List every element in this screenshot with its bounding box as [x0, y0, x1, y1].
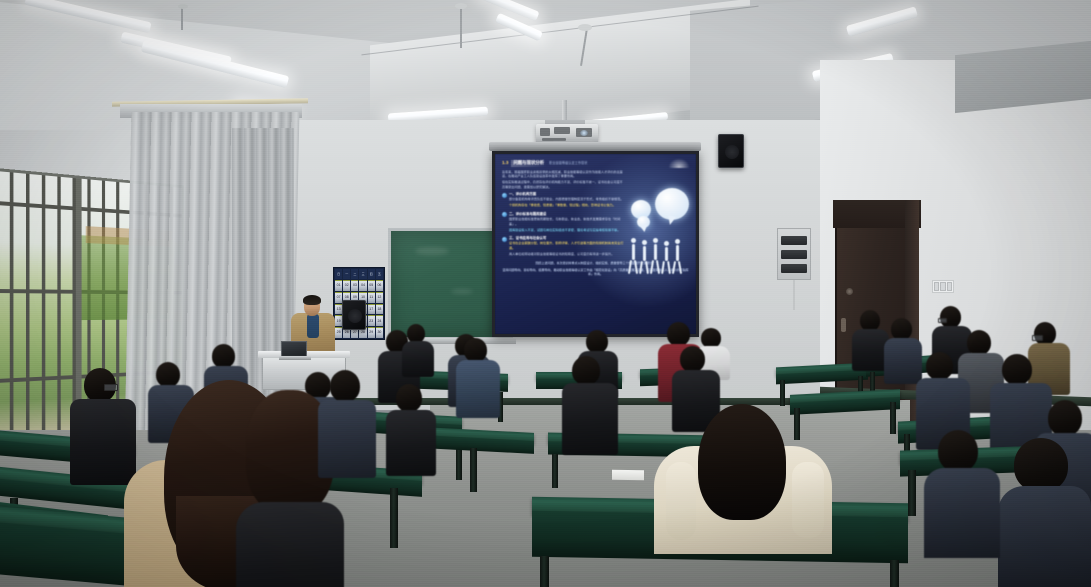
vent-slat [781, 264, 807, 273]
speech-bubble-small-tail [640, 224, 649, 232]
projector-lens [580, 130, 588, 136]
desk-leg [794, 408, 800, 440]
attendee-head [212, 344, 235, 368]
attendee-head [1002, 354, 1032, 385]
light-hanger-1 [181, 8, 183, 30]
attendee-head [701, 328, 721, 348]
roster-cell: 23 [368, 315, 375, 326]
attendee-head [396, 384, 422, 412]
attendee-head [940, 306, 961, 328]
attendee-head [1014, 438, 1068, 492]
organization-watermark-logo [668, 158, 690, 168]
glasses-icon [1032, 335, 1043, 341]
roster-cell: 11 [368, 292, 375, 303]
roster-cell: 02 [343, 280, 350, 291]
door-handle[interactable] [841, 318, 846, 332]
bullet-line: 部分备案机构考评员队伍不健全，内部质量管理制度流于形式，考务组织不够规范。 [509, 197, 623, 202]
desk-leg [390, 488, 398, 548]
attendee-torso [70, 399, 136, 485]
roster-header-cell: 五 [376, 269, 383, 279]
attendee-head [860, 310, 880, 331]
chalk-smudge [415, 247, 449, 255]
attendee-head [330, 370, 360, 402]
attendee-head [938, 430, 978, 472]
slide-bullet: 二、评价标准与题库建设 国家职业技能标准更新周期较长，与新职业、新业态、新技术发… [502, 212, 625, 234]
paper-on-desk[interactable] [612, 470, 644, 481]
attendee-head [156, 362, 180, 387]
attendee-head [1034, 322, 1056, 345]
right-wall-speaker [718, 134, 744, 168]
roster-header-cell: 日 [335, 269, 342, 279]
bullet-line-highlight: 题库建设投入不足，试题与岗位实际结合不紧密，理论考试与实操考核衔接不够。 [509, 228, 625, 233]
slide-title-bar: 1.3 问题与现状分析 职业技能等级认定工作现状 [502, 160, 689, 167]
projector-mount-pole [562, 100, 567, 122]
attendee-head [586, 330, 608, 353]
projection-screen-casing [489, 142, 701, 151]
presentation-slide: 1.3 问题与现状分析 职业技能等级认定工作现状 近年来，随着国家职业资格目录的… [495, 154, 696, 334]
roster-row: 01 02 03 04 05 06 [335, 280, 383, 291]
projector-ports [542, 138, 566, 141]
presenter-laptop-base[interactable] [279, 356, 311, 360]
slide-bullet: 一、评价机构方面 部分备案机构考评员队伍不健全，内部质量管理制度流于形式，考务组… [502, 192, 625, 209]
bullet-line: 用人单位和劳动者对职业技能等级证书的知晓度、认可度仍有待进一步提升。 [509, 252, 625, 257]
light-hanger-cap-1 [178, 4, 188, 9]
attendee-head [891, 318, 912, 340]
desk-leg [780, 380, 785, 406]
roster-cell: 29 [368, 327, 375, 338]
ceiling-projector [536, 124, 598, 144]
attendee-torso [998, 486, 1091, 587]
roster-cell: 18 [376, 304, 383, 315]
attendee-sleeve-left [666, 462, 696, 540]
speaker-cone [348, 309, 362, 323]
slide-title-suffix: 职业技能等级认定工作现状 [549, 161, 587, 166]
desk-leg [552, 454, 558, 488]
bullet-dot-icon [502, 212, 507, 217]
roster-cell: 05 [368, 280, 375, 291]
light-switch-panel[interactable] [932, 280, 954, 293]
attendee-torso [386, 410, 436, 476]
roster-cell: 03 [351, 280, 358, 291]
attendee-sleeve-right [792, 462, 824, 538]
attendee-torso [402, 341, 434, 377]
desk-leg [890, 560, 899, 587]
light-switch[interactable] [947, 282, 952, 291]
slide-number: 1.3 [502, 160, 508, 167]
bullet-dot-icon [502, 237, 507, 242]
attendee-head [464, 338, 487, 362]
desk-leg [470, 448, 477, 492]
attendee-head [572, 356, 600, 385]
roster-cell: 12 [376, 292, 383, 303]
projector-panel [554, 127, 570, 134]
speech-bubble-large-tail [666, 215, 676, 226]
chalk-smudge [451, 289, 473, 294]
vent-slat [781, 236, 807, 245]
presenter-hair [303, 295, 321, 305]
attendee-head [926, 352, 953, 380]
vent-cord [793, 280, 795, 310]
attendee-long-hair [698, 404, 786, 520]
attendee-head [1048, 400, 1082, 436]
window-bar [57, 177, 60, 435]
light-hanger-2 [460, 6, 462, 48]
roster-cell: 17 [368, 304, 375, 315]
roster-cell: 01 [335, 280, 342, 291]
projector-vent [540, 128, 550, 136]
bullet-line: 国家职业技能标准更新周期较长，与新职业、新业态、新技术发展需求存在「时间差」。 [509, 217, 625, 226]
bullet-line-highlight: 证书在企业薪酬分配、岗位晋升、职称评审、人才引进等方面的衔接机制尚未完全打通。 [509, 241, 625, 250]
roster-cell: 04 [359, 280, 366, 291]
bullet-line-highlight: 个别机构存在「重收费、轻质量」「重数量、轻过程」倾向，影响证书公信力。 [509, 203, 623, 208]
attendee-head [680, 346, 705, 372]
pull-down-projection-screen: 1.3 问题与现状分析 职业技能等级认定工作现状 近年来，随着国家职业资格目录的… [492, 151, 699, 337]
presenter-shirt [307, 314, 319, 338]
window-bar [42, 175, 45, 436]
roster-cell: 30 [376, 327, 383, 338]
roster-cell: 25 [335, 327, 342, 338]
glasses-icon [938, 318, 947, 323]
attendee-torso [924, 468, 1000, 558]
roster-header-row: 日 一 二 三 四 五 [335, 269, 383, 279]
roster-header-cell: 一 [343, 269, 350, 279]
speaker-cone [725, 145, 739, 159]
slide-paragraph: 但在实际推进过程中，仍然存在评价机构能力不足、评价标准不统一、证书社会认可度不高… [502, 180, 625, 189]
roster-header-cell: 三 [359, 269, 366, 279]
roster-header-cell: 二 [351, 269, 358, 279]
slide-artwork [625, 188, 691, 280]
attendee-torso [236, 502, 344, 587]
door-lock-icon[interactable] [846, 288, 853, 295]
slide-bullet: 三、证书应用与社会认可 证书在企业薪酬分配、岗位晋升、职称评审、人才引进等方面的… [502, 236, 625, 258]
attendee-torso [562, 383, 618, 455]
roster-cell: 06 [376, 280, 383, 291]
desk-leg [908, 470, 916, 516]
window-bar [10, 172, 14, 439]
light-switch[interactable] [940, 282, 945, 291]
bullet-dot-icon [502, 193, 507, 198]
roster-cell: 24 [376, 315, 383, 326]
vent-slat [781, 250, 807, 259]
slide-title: 问题与现状分析 [511, 160, 546, 166]
desk-leg [890, 402, 896, 434]
desk-leg [540, 556, 549, 587]
attendee-torso [884, 338, 922, 384]
light-switch[interactable] [934, 282, 939, 291]
light-hanger-cap-3 [578, 24, 592, 31]
wall-vent-grille [777, 228, 811, 280]
classroom-photo-scene: 日 一 二 三 四 五 01 02 03 04 05 06 07 08 09 1… [0, 0, 1091, 587]
attendee-head [667, 322, 690, 346]
slide-paragraph: 近年来，随着国家职业资格目录的大幅压减，职业技能等级认定作为技能人才评价的主渠道… [502, 170, 625, 179]
glasses-icon [104, 384, 118, 391]
window-bar [26, 174, 30, 438]
attendee-torso [456, 360, 500, 418]
presenter-laptop-screen[interactable] [281, 341, 307, 357]
light-hanger-cap-2 [455, 3, 467, 9]
attendee-head [967, 330, 991, 355]
roster-header-cell: 四 [368, 269, 375, 279]
left-wall-speaker [342, 300, 366, 330]
attendee-torso [318, 400, 376, 478]
